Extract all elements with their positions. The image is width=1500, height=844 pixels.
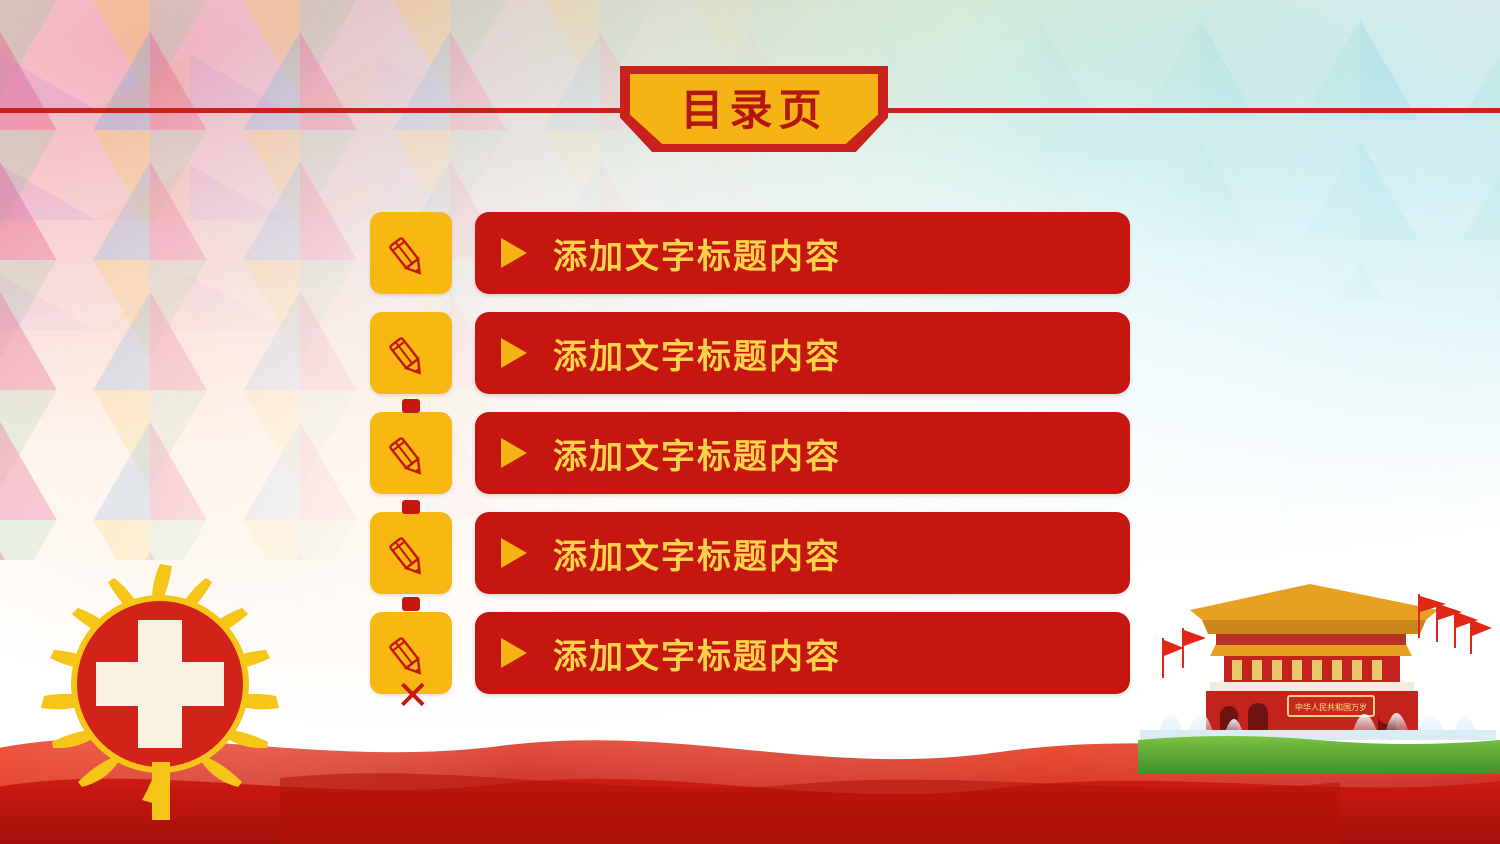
- page-title-badge: 目录页: [620, 66, 888, 152]
- pencil-icon: [370, 412, 452, 494]
- party-emblem-icon: [10, 524, 330, 824]
- pencil-icon: [370, 312, 452, 394]
- play-triangle-icon: [501, 538, 527, 568]
- decor-nub: [402, 500, 420, 514]
- play-triangle-icon: [501, 338, 527, 368]
- toc-item-label: 添加文字标题内容: [553, 229, 841, 278]
- decor-nub: [402, 399, 420, 413]
- pencil-icon: [370, 512, 452, 594]
- toc-item-label: 添加文字标题内容: [553, 529, 841, 578]
- play-triangle-icon: [501, 238, 527, 268]
- toc-bar[interactable]: 添加文字标题内容: [475, 512, 1130, 594]
- list-item[interactable]: 添加文字标题内容: [370, 212, 1130, 298]
- play-triangle-icon: [501, 438, 527, 468]
- toc-item-label: 添加文字标题内容: [553, 329, 841, 378]
- decor-nub: [402, 597, 420, 611]
- pencil-icon: [370, 212, 452, 294]
- toc-item-label: 添加文字标题内容: [553, 629, 841, 678]
- svg-text:中华人民共和国万岁: 中华人民共和国万岁: [1295, 702, 1367, 712]
- toc-bar[interactable]: 添加文字标题内容: [475, 312, 1130, 394]
- toc-bar[interactable]: 添加文字标题内容: [475, 212, 1130, 294]
- list-item[interactable]: 添加文字标题内容: [370, 512, 1130, 598]
- play-triangle-icon: [501, 638, 527, 668]
- list-item[interactable]: 添加文字标题内容: [370, 312, 1130, 398]
- toc-item-label: 添加文字标题内容: [553, 429, 841, 478]
- toc-list: 添加文字标题内容 添加文字标题内容: [370, 212, 1130, 712]
- toc-bar[interactable]: 添加文字标题内容: [475, 412, 1130, 494]
- slide-canvas: 目录页 添加文字标题内容: [0, 0, 1500, 844]
- tiananmen-gate-illustration: 中华人民共和国万岁: [1120, 544, 1500, 774]
- page-title: 目录页: [620, 66, 888, 152]
- list-item[interactable]: 添加文字标题内容: [370, 412, 1130, 498]
